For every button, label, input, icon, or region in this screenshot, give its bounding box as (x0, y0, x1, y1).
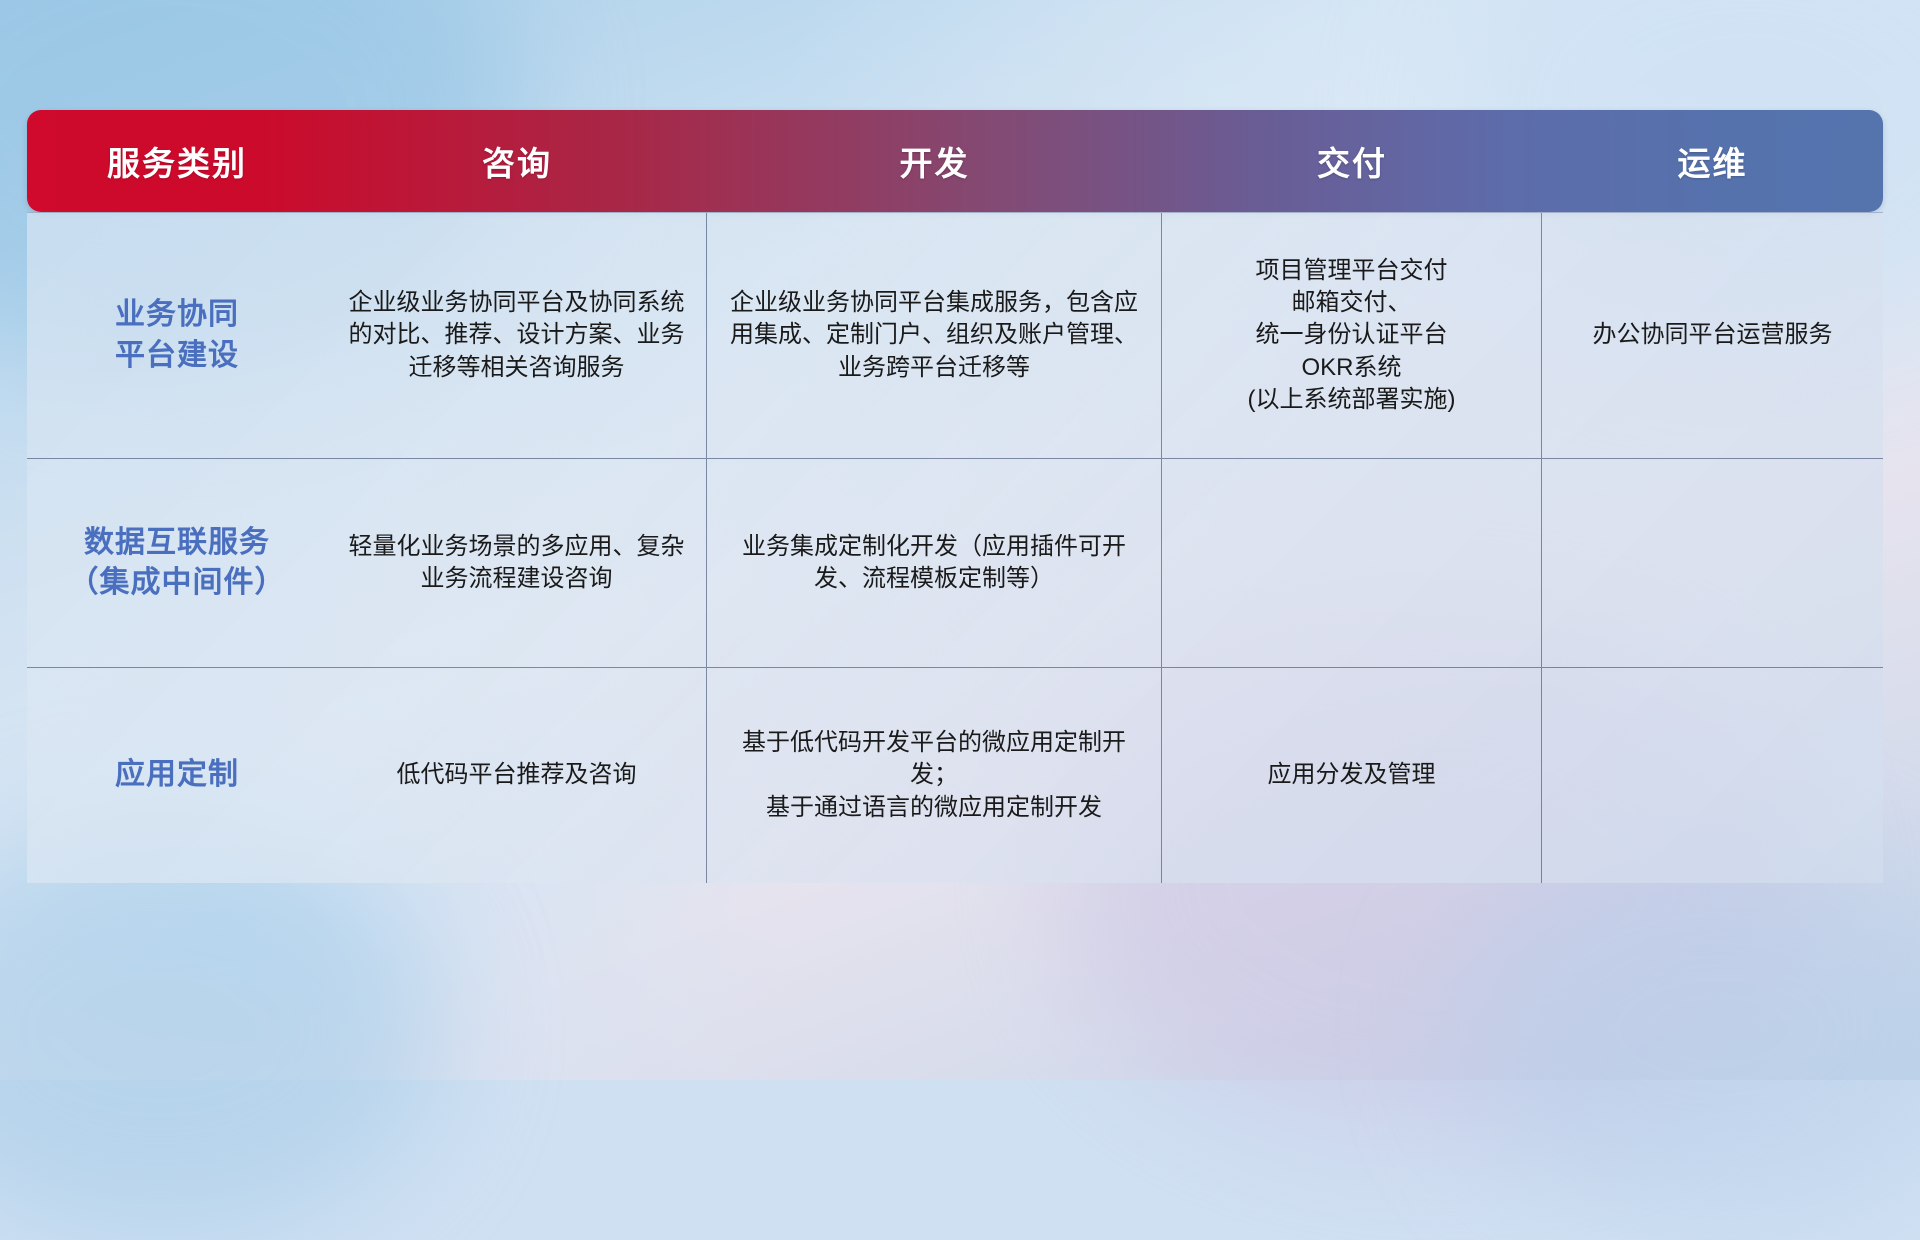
column-header-consulting: 咨询 (327, 110, 707, 212)
table-header-row: 服务类别 咨询 开发 交付 运维 (27, 110, 1883, 212)
cell-development: 基于低代码开发平台的微应用定制开发； 基于通过语言的微应用定制开发 (707, 668, 1162, 883)
cell-operations (1542, 668, 1883, 883)
row-category-label: 数据互联服务 （集成中间件） (27, 459, 327, 667)
row-category-label: 应用定制 (27, 668, 327, 883)
cell-development: 企业级业务协同平台集成服务，包含应用集成、定制门户、组织及账户管理、业务跨平台迁… (707, 213, 1162, 458)
cell-operations (1542, 459, 1883, 667)
row-category-label: 业务协同 平台建设 (27, 213, 327, 458)
cell-consulting: 企业级业务协同平台及协同系统的对比、推荐、设计方案、业务迁移等相关咨询服务 (327, 213, 707, 458)
cell-delivery: 项目管理平台交付 邮箱交付、 统一身份认证平台 OKR系统 (以上系统部署实施) (1162, 213, 1542, 458)
table-row: 数据互联服务 （集成中间件） 轻量化业务场景的多应用、复杂业务流程建设咨询 业务… (27, 459, 1883, 668)
table-row: 业务协同 平台建设 企业级业务协同平台及协同系统的对比、推荐、设计方案、业务迁移… (27, 213, 1883, 459)
cell-consulting: 低代码平台推荐及咨询 (327, 668, 707, 883)
cell-consulting: 轻量化业务场景的多应用、复杂业务流程建设咨询 (327, 459, 707, 667)
column-header-delivery: 交付 (1162, 110, 1542, 212)
column-header-operations: 运维 (1542, 110, 1883, 212)
table-body: 业务协同 平台建设 企业级业务协同平台及协同系统的对比、推荐、设计方案、业务迁移… (27, 212, 1883, 883)
cell-delivery: 应用分发及管理 (1162, 668, 1542, 883)
service-matrix-table: 服务类别 咨询 开发 交付 运维 业务协同 平台建设 企业级业务协同平台及协同系… (27, 110, 1883, 883)
cell-development: 业务集成定制化开发（应用插件可开发、流程模板定制等） (707, 459, 1162, 667)
cell-delivery (1162, 459, 1542, 667)
table-row: 应用定制 低代码平台推荐及咨询 基于低代码开发平台的微应用定制开发； 基于通过语… (27, 668, 1883, 883)
column-header-development: 开发 (707, 110, 1162, 212)
column-header-category: 服务类别 (27, 110, 327, 212)
cell-operations: 办公协同平台运营服务 (1542, 213, 1883, 458)
